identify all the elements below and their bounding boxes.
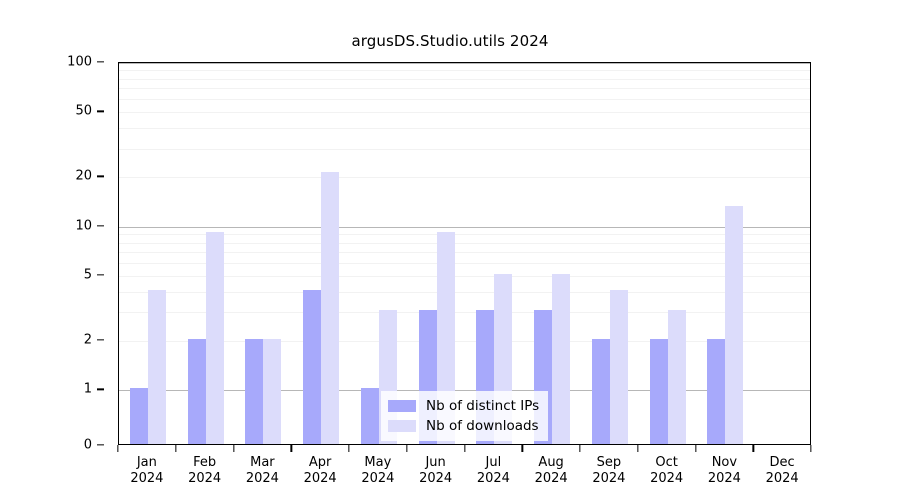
x-axis-tick-label-month: Feb <box>188 455 221 471</box>
x-axis-tick-label: Jul2024 <box>477 455 510 487</box>
x-axis-tick-label: Oct2024 <box>650 455 683 487</box>
x-axis-tick-label-year: 2024 <box>304 471 337 487</box>
legend-item[interactable]: Nb of distinct IPs <box>388 396 539 416</box>
legend-label: Nb of distinct IPs <box>426 398 539 414</box>
legend-label: Nb of downloads <box>426 418 539 434</box>
x-axis-tick-mark <box>579 445 580 452</box>
chart-title: argusDS.Studio.utils 2024 <box>0 32 900 50</box>
x-axis-tick-mark <box>522 445 523 452</box>
x-axis-tick-label: Aug2024 <box>535 455 568 487</box>
bar <box>321 172 339 444</box>
y-axis: 0125102050100 <box>0 62 118 445</box>
x-axis-tick-label-year: 2024 <box>592 471 625 487</box>
bar <box>707 339 725 444</box>
plot-area <box>118 62 811 445</box>
x-axis-tick-label-month: Jan <box>130 455 163 471</box>
x-axis-tick-mark <box>406 445 407 452</box>
bar <box>650 339 668 444</box>
x-axis-tick-label-year: 2024 <box>477 471 510 487</box>
x-axis-tick-label-year: 2024 <box>246 471 279 487</box>
chart-figure: argusDS.Studio.utils 2024 0125102050100 … <box>0 0 900 500</box>
x-axis-tick-label: Sep2024 <box>592 455 625 487</box>
bar <box>303 290 321 444</box>
y-axis-tick-label: 2 <box>84 333 92 348</box>
bar <box>592 339 610 444</box>
x-axis-tick-label-year: 2024 <box>535 471 568 487</box>
x-axis-tick-label: Dec2024 <box>766 455 799 487</box>
x-axis-tick-label: Apr2024 <box>304 455 337 487</box>
x-axis-tick-label-month: Nov <box>708 455 741 471</box>
bar <box>361 388 379 444</box>
bar <box>206 232 224 444</box>
x-axis-tick-label-year: 2024 <box>188 471 221 487</box>
x-axis-tick-label-year: 2024 <box>361 471 394 487</box>
x-axis-tick-label-year: 2024 <box>708 471 741 487</box>
x-axis-tick-label-month: Oct <box>650 455 683 471</box>
x-axis-tick-label-month: Sep <box>592 455 625 471</box>
y-axis-tick-label: 10 <box>75 218 92 233</box>
legend-swatch <box>388 400 416 412</box>
x-axis-tick-mark <box>233 445 234 452</box>
x-axis-tick-label-month: Mar <box>246 455 279 471</box>
x-axis-tick-label: Jun2024 <box>419 455 452 487</box>
y-axis-tick-label: 20 <box>75 169 92 184</box>
y-axis-tick-mark <box>97 274 104 275</box>
bar <box>188 339 206 444</box>
bar <box>263 339 281 444</box>
x-axis-tick-label-month: May <box>361 455 394 471</box>
x-axis-tick-label-month: Dec <box>766 455 799 471</box>
y-axis-tick-mark <box>97 111 104 112</box>
x-axis-tick-mark <box>695 445 696 452</box>
x-axis-tick-label-month: Apr <box>304 455 337 471</box>
y-axis-tick-label: 50 <box>75 104 92 119</box>
x-axis-tick-mark <box>637 445 638 452</box>
x-axis-tick-mark <box>348 445 349 452</box>
y-axis-tick-mark <box>97 389 104 390</box>
x-axis-tick-label-year: 2024 <box>650 471 683 487</box>
x-axis-tick-mark <box>291 445 292 452</box>
bar <box>148 290 166 444</box>
x-axis-tick-label-year: 2024 <box>130 471 163 487</box>
chart-legend: Nb of distinct IPsNb of downloads <box>381 391 548 441</box>
x-axis-tick-label-year: 2024 <box>766 471 799 487</box>
x-axis-tick-mark <box>753 445 754 452</box>
x-axis-tick-label-month: Aug <box>535 455 568 471</box>
bar <box>552 274 570 444</box>
x-axis-tick-mark <box>117 445 118 452</box>
y-axis-tick-label: 5 <box>84 268 92 283</box>
bar <box>725 206 743 444</box>
bars-layer <box>119 63 810 444</box>
y-axis-tick-mark <box>97 61 104 62</box>
x-axis-tick-mark <box>464 445 465 452</box>
legend-item[interactable]: Nb of downloads <box>388 416 539 436</box>
x-axis-tick-label: Jan2024 <box>130 455 163 487</box>
y-axis-tick-mark <box>97 444 104 445</box>
y-axis-tick-label: 100 <box>67 55 92 70</box>
x-axis-tick-label: Nov2024 <box>708 455 741 487</box>
y-axis-tick-mark <box>97 176 104 177</box>
x-axis-tick-label: May2024 <box>361 455 394 487</box>
bar <box>610 290 628 444</box>
x-axis-tick-label-year: 2024 <box>419 471 452 487</box>
y-axis-tick-label: 0 <box>84 438 92 453</box>
bar <box>130 388 148 444</box>
x-axis-tick-label-month: Jun <box>419 455 452 471</box>
x-axis: Jan2024Feb2024Mar2024Apr2024May2024Jun20… <box>118 445 811 500</box>
y-axis-tick-label: 1 <box>84 382 92 397</box>
x-axis-tick-label: Feb2024 <box>188 455 221 487</box>
y-axis-tick-mark <box>97 225 104 226</box>
legend-swatch <box>388 420 416 432</box>
x-axis-tick-mark <box>175 445 176 452</box>
x-axis-tick-label-month: Jul <box>477 455 510 471</box>
bar <box>245 339 263 444</box>
y-axis-tick-mark <box>97 340 104 341</box>
bar <box>668 310 686 444</box>
x-axis-tick-mark <box>810 445 811 452</box>
x-axis-tick-label: Mar2024 <box>246 455 279 487</box>
